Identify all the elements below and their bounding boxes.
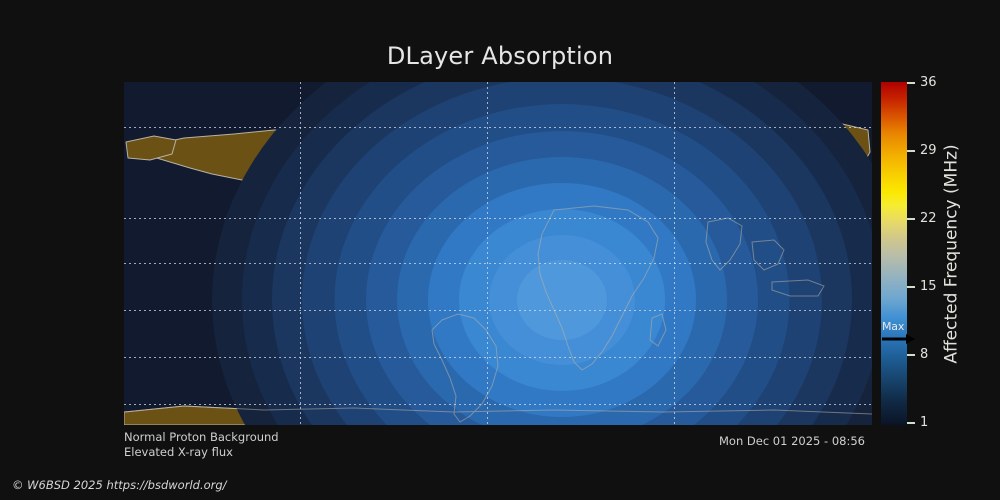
app-root: DLayer Absorption [0, 0, 1000, 500]
page-title: DLayer Absorption [0, 42, 1000, 70]
tick-mark-icon [907, 354, 915, 356]
status-proton: Normal Proton Background [124, 430, 279, 445]
world-map[interactable] [124, 82, 872, 425]
status-text: Normal Proton Background Elevated X-ray … [124, 430, 279, 460]
coastline-overlay [124, 82, 872, 425]
status-xray: Elevated X-ray flux [124, 445, 279, 460]
tick-mark-icon [907, 422, 915, 424]
tick-mark-icon [907, 286, 915, 288]
tick-mark-icon [907, 82, 915, 84]
max-marker: Max [881, 322, 921, 346]
colorbar-axis-label: Affected Frequency (MHz) [938, 82, 966, 425]
max-marker-label: Max [882, 321, 904, 333]
arrow-right-icon [882, 334, 916, 345]
copyright-notice: © W6BSD 2025 https://bsdworld.org/ [12, 478, 227, 492]
tick-mark-icon [907, 218, 915, 220]
colorbar-gradient [881, 82, 907, 425]
tick-mark-icon [907, 150, 915, 152]
timestamp: Mon Dec 01 2025 - 08:56 [719, 434, 865, 448]
